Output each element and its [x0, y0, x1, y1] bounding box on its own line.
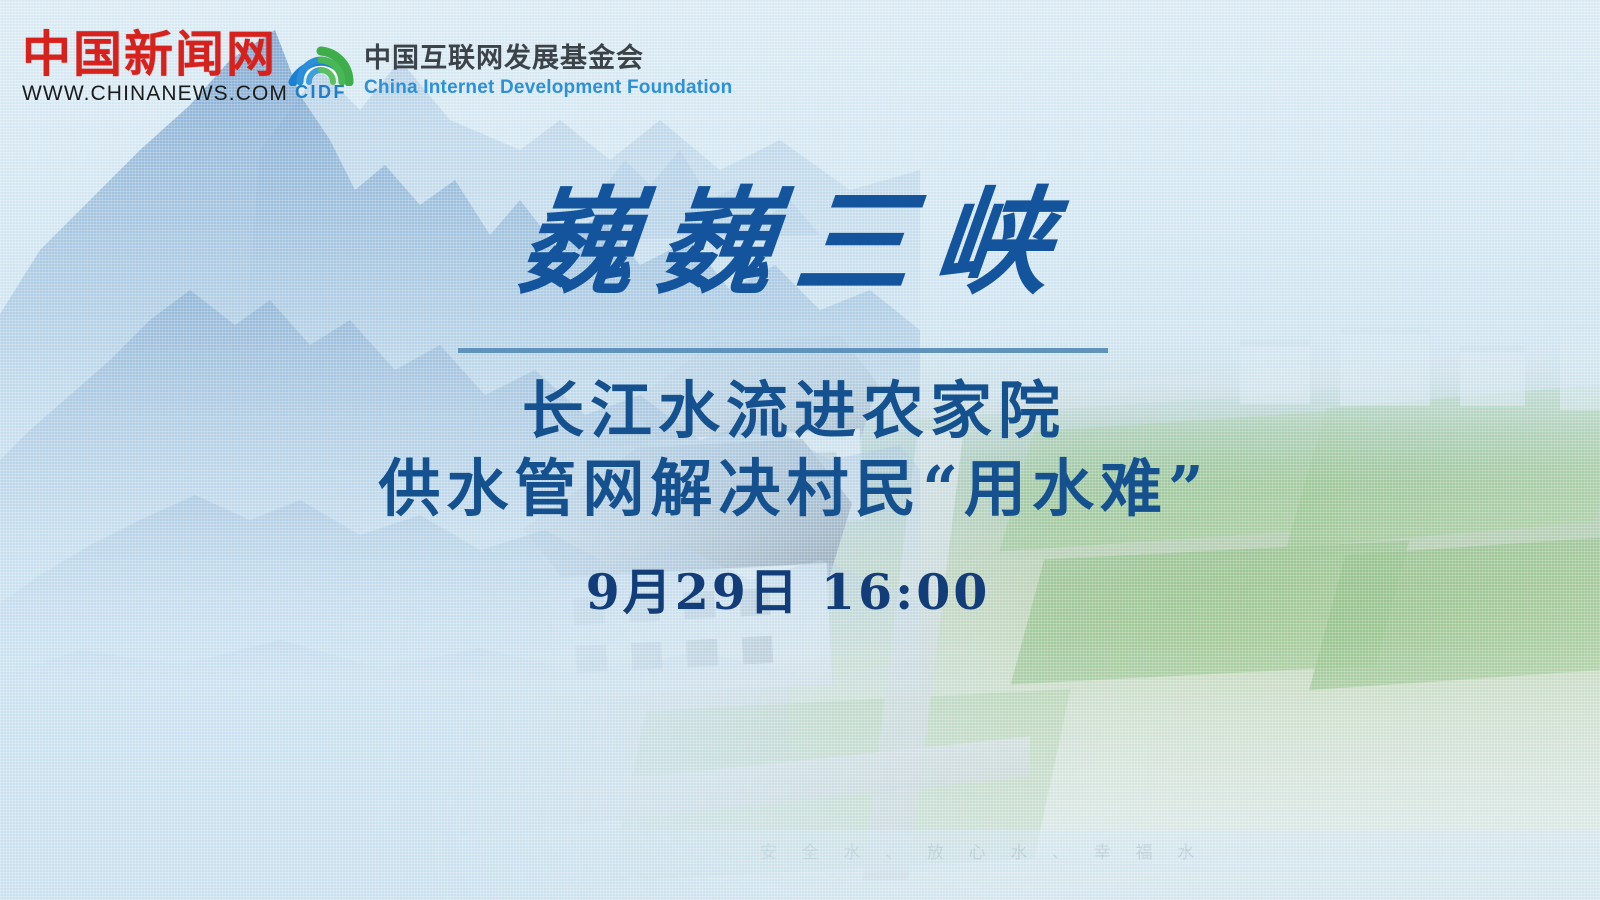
chinanews-logo[interactable]: 中国新闻网 WWW.CHINANEWS.COM	[22, 28, 288, 106]
chinanews-logo-url: WWW.CHINANEWS.COM	[22, 82, 288, 106]
title-divider	[458, 348, 1108, 353]
cidf-logo[interactable]: CIDF 中国互联网发展基金会 China Internet Developme…	[288, 42, 732, 106]
logo-bar: 中国新闻网 WWW.CHINANEWS.COM	[0, 0, 1600, 130]
cidf-chinese-name: 中国互联网发展基金会	[364, 44, 732, 74]
chinanews-logo-chinese: 中国新闻网	[22, 28, 288, 80]
cidf-wordmark: 中国互联网发展基金会 China Internet Development Fo…	[364, 42, 732, 99]
main-title: 巍巍三峡	[423, 172, 1148, 314]
broadcast-datetime: 9月29日 16:00	[0, 563, 1588, 621]
cidf-arc-icon: CIDF	[288, 42, 354, 106]
subtitle-line-2: 供水管网解决村民“用水难”	[0, 454, 1591, 524]
subtitle-line-1: 长江水流进农家院	[0, 376, 1591, 446]
cidf-english-name: China Internet Development Foundation	[364, 77, 732, 99]
livestream-poster: 安 全 水 、 放 心 水 、 幸 福 水	[0, 0, 1600, 900]
cidf-abbr-text: CIDF	[288, 82, 354, 103]
paper-texture	[0, 0, 1600, 900]
